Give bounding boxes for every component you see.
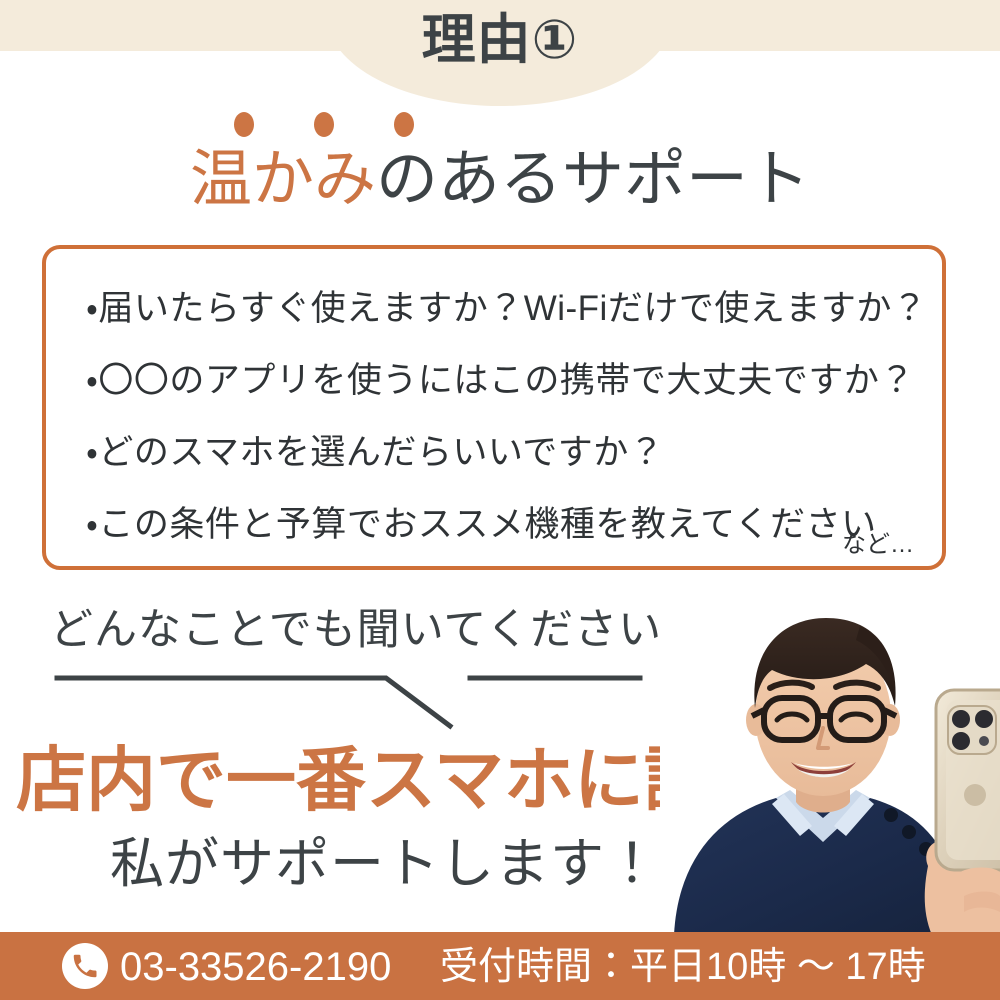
section-title: 温かみのあるサポート (0, 142, 1000, 218)
phone-icon (62, 943, 108, 989)
ask-anything-text: どんなことでも聞いてください！ (50, 602, 706, 658)
phone-number[interactable]: 03-33526-2190 (120, 946, 391, 988)
contact-footer: 03-33526-2190 受付時間：平日10時 ～ 17時 (0, 932, 1000, 1000)
list-item: ・どのスマホを選んだらいいですか？ (86, 417, 918, 489)
list-item: ・届いたらすぐ使えますか？Wi-Fiだけで使えますか？ (86, 273, 918, 345)
staff-photo (660, 590, 1000, 935)
phone-handset-glyph (70, 951, 100, 981)
list-item: ・〇〇のアプリを使うにはこの携帯で大丈夫ですか？ (86, 345, 918, 417)
section-title-highlight: 温かみ (190, 145, 376, 214)
question-box-note: など… (842, 530, 914, 560)
emphasis-dots (228, 112, 458, 138)
list-item: ・この条件と予算でおススメ機種を教えてください (86, 489, 918, 561)
emphasis-dot (394, 112, 414, 137)
question-box: ・届いたらすぐ使えますか？Wi-Fiだけで使えますか？ ・〇〇のアプリを使うには… (42, 245, 946, 570)
emphasis-dot (234, 112, 254, 137)
headline-secondary: 私がサポートします！ (110, 828, 660, 900)
business-hours: 受付時間：平日10時 ～ 17時 (440, 946, 926, 988)
section-title-rest: のあるサポート (376, 145, 810, 214)
question-list: ・届いたらすぐ使えますか？Wi-Fiだけで使えますか？ ・〇〇のアプリを使うには… (86, 273, 918, 561)
reason-badge-label: 理由① (0, 10, 1000, 70)
promo-graphic: 理由① 温かみのあるサポート ・届いたらすぐ使えますか？Wi-Fiだけで使えます… (0, 0, 1000, 1000)
staff-photo-illustration (660, 590, 1000, 935)
emphasis-dot (314, 112, 334, 137)
speech-bubble-underline-icon (40, 660, 660, 732)
